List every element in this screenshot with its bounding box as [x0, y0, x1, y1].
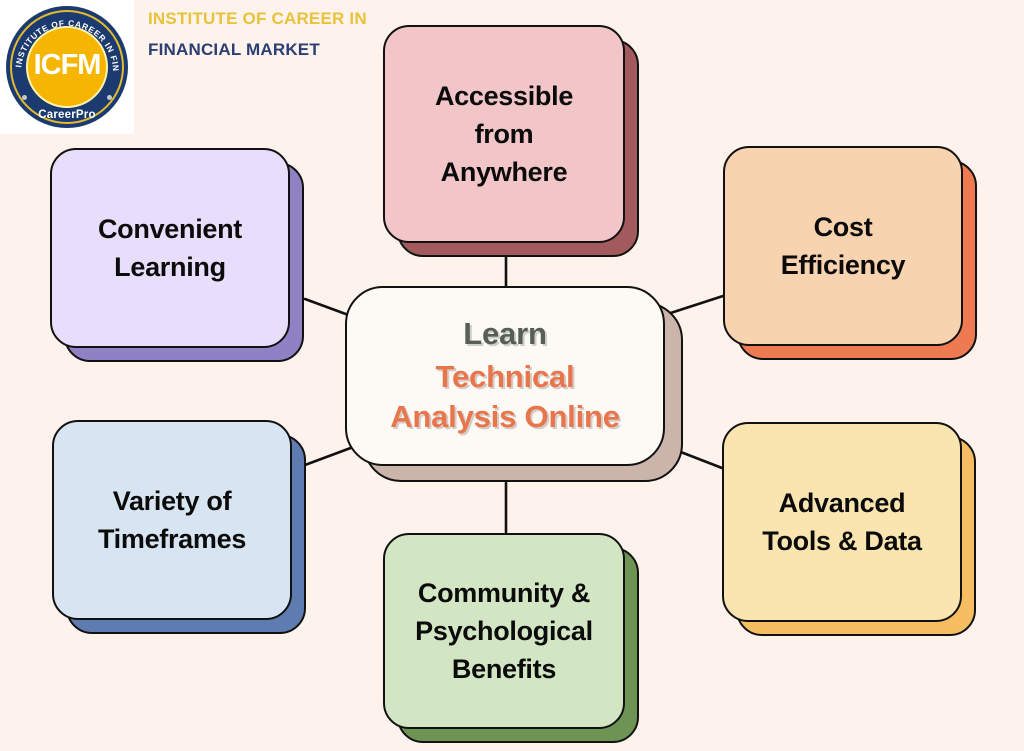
node-face: Cost Efficiency [723, 146, 963, 346]
node-label-line: Community & [415, 574, 593, 612]
node-convenient-learning[interactable]: Convenient Learning [50, 148, 290, 348]
logo-plate: INSTITUTE OF CAREER IN FINANCIAL MARKET … [0, 0, 134, 134]
logo-dot-right [107, 95, 112, 100]
node-label: Accessible from Anywhere [435, 77, 573, 192]
node-label-line: Convenient [98, 210, 242, 248]
node-label-line: Timeframes [98, 520, 246, 558]
icfm-circular-logo-icon: INSTITUTE OF CAREER IN FINANCIAL MARKET … [6, 6, 128, 128]
node-face: Advanced Tools & Data [722, 422, 962, 622]
node-accessible-from-anywhere[interactable]: Accessible from Anywhere [383, 25, 625, 243]
node-center-learn-technical-analysis-online[interactable]: Learn Technical Analysis Online [345, 286, 665, 466]
logo-dot-left [22, 95, 27, 100]
node-label-line: Anywhere [435, 153, 573, 191]
node-variety-of-timeframes[interactable]: Variety of Timeframes [52, 420, 292, 620]
logo-disc: ICFM [26, 26, 108, 108]
node-label: Variety of Timeframes [98, 482, 246, 559]
brand-header: INSTITUTE OF CAREER IN FINANCIAL MARKET … [0, 0, 372, 136]
node-face: Learn Technical Analysis Online [345, 286, 665, 466]
node-advanced-tools-and-data[interactable]: Advanced Tools & Data [722, 422, 962, 622]
brand-title-line1: INSTITUTE OF CAREER IN [148, 8, 367, 29]
node-face: Accessible from Anywhere [383, 25, 625, 243]
node-label-line: Efficiency [781, 246, 906, 284]
node-label: Advanced Tools & Data [762, 484, 921, 561]
center-title-line2: Technical [436, 357, 575, 397]
brand-text: INSTITUTE OF CAREER IN FINANCIAL MARKET [148, 8, 367, 61]
node-label-line: Cost [781, 208, 906, 246]
node-label-line: Advanced [762, 484, 921, 522]
node-cost-efficiency[interactable]: Cost Efficiency [723, 146, 963, 346]
center-title-line1: Learn [463, 315, 546, 353]
infographic-canvas: INSTITUTE OF CAREER IN FINANCIAL MARKET … [0, 0, 1024, 751]
node-label: Convenient Learning [98, 210, 242, 287]
node-face: Convenient Learning [50, 148, 290, 348]
node-label-line: Tools & Data [762, 522, 921, 560]
node-label-line: Accessible [435, 77, 573, 115]
node-label-line: Benefits [415, 650, 593, 688]
logo-initials: ICFM [34, 51, 101, 80]
node-label-line: from [435, 115, 573, 153]
node-face: Variety of Timeframes [52, 420, 292, 620]
node-label: Cost Efficiency [781, 208, 906, 285]
logo-tagline: CareerPro [6, 109, 128, 121]
node-label-line: Variety of [98, 482, 246, 520]
brand-title-line2: FINANCIAL MARKET [148, 39, 367, 60]
node-label: Community & Psychological Benefits [415, 574, 593, 689]
center-title-line3: Analysis Online [390, 397, 620, 437]
node-face: Community & Psychological Benefits [383, 533, 625, 729]
node-community-and-psychological-benefits[interactable]: Community & Psychological Benefits [383, 533, 625, 729]
node-label-line: Psychological [415, 612, 593, 650]
node-label-line: Learning [98, 248, 242, 286]
